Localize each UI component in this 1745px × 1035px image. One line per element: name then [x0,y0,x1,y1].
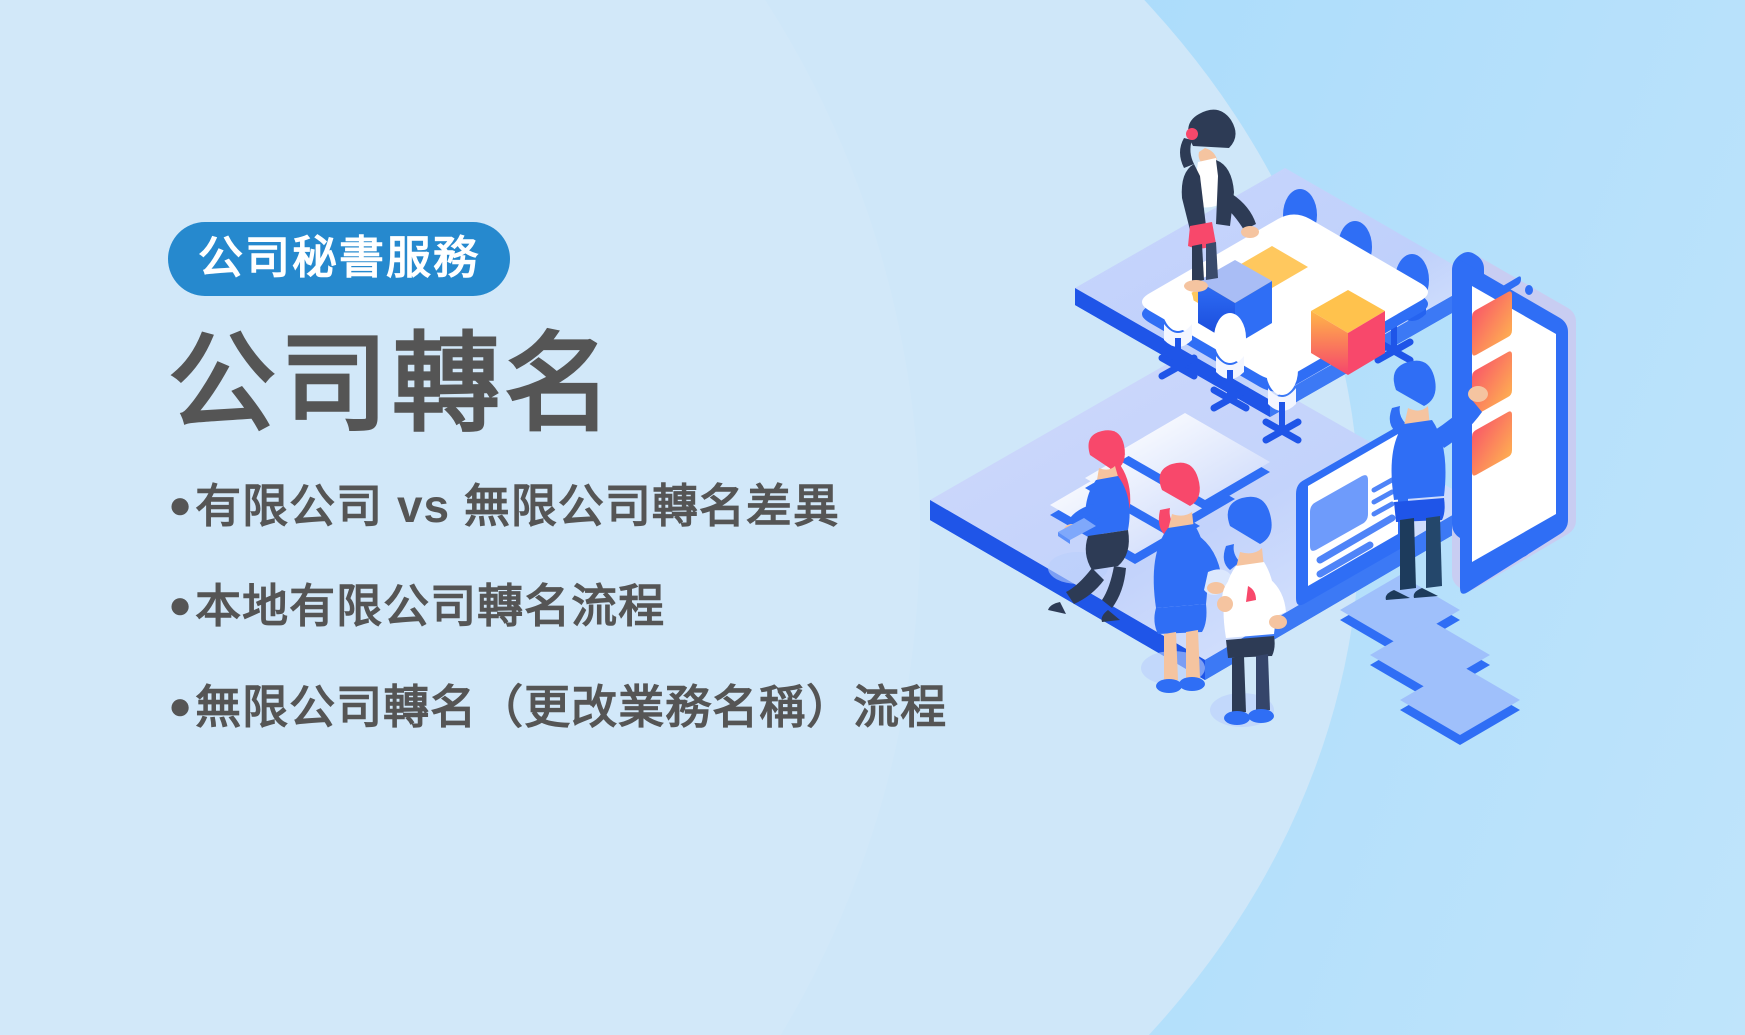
bullet-dot-icon: ● [168,481,193,530]
service-category-badge: 公司秘書服務 [168,222,510,296]
banner-text-content: 公司秘書服務 公司轉名 ● 有限公司 vs 無限公司轉名差異 ● 本地有限公司轉… [168,222,988,782]
list-item-label: 有限公司 vs 無限公司轉名差異 [195,481,840,532]
feature-bullet-list: ● 有限公司 vs 無限公司轉名差異 ● 本地有限公司轉名流程 ● 無限公司轉名… [168,481,988,733]
list-item: ● 有限公司 vs 無限公司轉名差異 [168,481,988,532]
list-item: ● 無限公司轉名（更改業務名稱）流程 [168,682,988,733]
bullet-dot-icon: ● [168,581,193,630]
list-item-label: 無限公司轉名（更改業務名稱）流程 [195,682,947,733]
list-item: ● 本地有限公司轉名流程 [168,581,988,632]
marketing-banner: 公司秘書服務 公司轉名 ● 有限公司 vs 無限公司轉名差異 ● 本地有限公司轉… [0,0,1745,1035]
list-item-label: 本地有限公司轉名流程 [195,581,665,632]
side-bar-shapes [1340,575,1520,745]
page-title: 公司轉名 [168,326,988,443]
bullet-dot-icon: ● [168,682,193,731]
isometric-office-illustration [900,90,1600,810]
